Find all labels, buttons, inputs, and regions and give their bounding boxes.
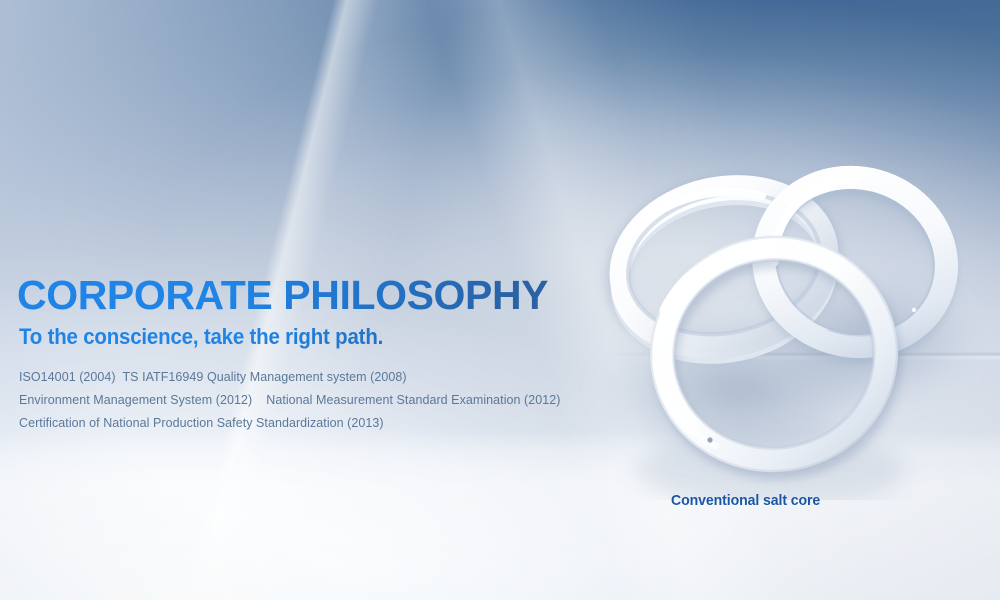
certification-list: ISO14001 (2004) TS IATF16949 Quality Man… [19, 366, 637, 435]
page-title: CORPORATE PHILOSOPHY [17, 272, 637, 318]
page-subtitle: To the conscience, take the right path. [19, 324, 594, 350]
product-caption: Conventional salt core [671, 492, 820, 509]
certification-line: Certification of National Production Saf… [19, 412, 637, 435]
corporate-philosophy-banner: CORPORATE PHILOSOPHY To the conscience, … [0, 0, 1000, 600]
certification-line: Environment Management System (2012) Nat… [19, 389, 637, 412]
certification-line: ISO14001 (2004) TS IATF16949 Quality Man… [19, 366, 637, 389]
banner-text-block: CORPORATE PHILOSOPHY To the conscience, … [17, 272, 637, 435]
